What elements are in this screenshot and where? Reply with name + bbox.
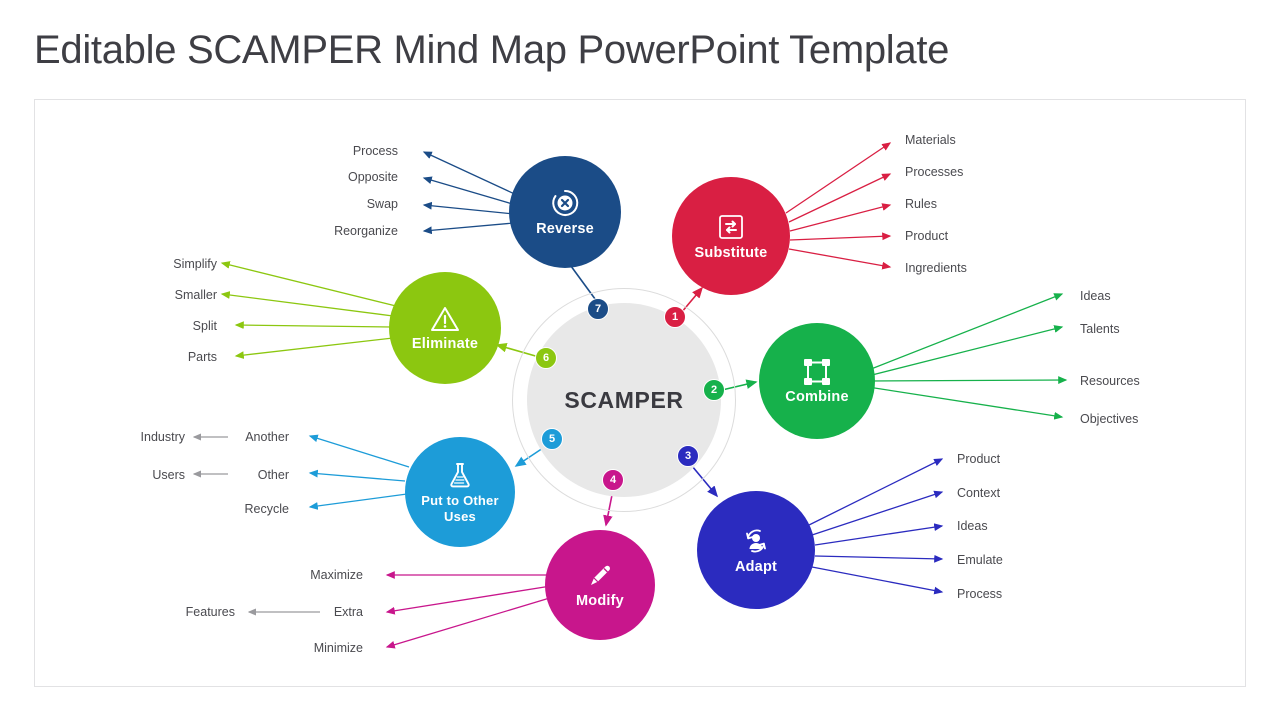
leaf-eliminate-0: Simplify [117, 257, 217, 271]
leaf-modify-0: Maximize [243, 568, 363, 582]
leaf-combine-2: Resources [1080, 374, 1140, 388]
leaf-substitute-4: Ingredients [905, 261, 967, 275]
leaf-reverse-0: Process [278, 144, 398, 158]
leaf-modify-2: Minimize [243, 641, 363, 655]
leaf-eliminate-3: Parts [117, 350, 217, 364]
person-refresh-icon [740, 525, 772, 557]
node-modify[interactable]: Modify [545, 530, 655, 640]
badge-7-reverse[interactable]: 7 [587, 298, 609, 320]
warning-triangle-icon [429, 304, 461, 334]
leaf-adapt-2: Ideas [957, 519, 988, 533]
leaf-substitute-3: Product [905, 229, 948, 243]
node-reverse[interactable]: Reverse [509, 156, 621, 268]
leaf-reverse-1: Opposite [278, 170, 398, 184]
leaf-modify-sub-0: Features [120, 605, 235, 619]
leaf-combine-0: Ideas [1080, 289, 1111, 303]
leaf-modify-1: Extra [243, 605, 363, 619]
exchange-arrows-icon [715, 211, 747, 243]
node-label-line-1: Put to Other [421, 493, 499, 508]
badge-2-combine[interactable]: 2 [703, 379, 725, 401]
reverse-x-icon [549, 187, 581, 219]
badge-6-eliminate[interactable]: 6 [535, 347, 557, 369]
node-put-to-other-uses-label: Put to Other Uses [421, 493, 499, 524]
hub-label: SCAMPER [527, 303, 721, 497]
node-adapt[interactable]: Adapt [697, 491, 815, 609]
node-adapt-label: Adapt [735, 560, 777, 576]
network-nodes-icon [801, 357, 833, 387]
badge-1-substitute[interactable]: 1 [664, 306, 686, 328]
node-combine[interactable]: Combine [759, 323, 875, 439]
leaf-combine-1: Talents [1080, 322, 1120, 336]
leaf-substitute-2: Rules [905, 197, 937, 211]
leaf-put-to-other-uses-2: Recycle [189, 502, 289, 516]
flask-icon [445, 460, 475, 490]
node-put-to-other-uses[interactable]: Put to Other Uses [405, 437, 515, 547]
leaf-adapt-3: Emulate [957, 553, 1003, 567]
leaf-adapt-0: Product [957, 452, 1000, 466]
leaf-put-to-other-uses-sub-0: Industry [85, 430, 185, 444]
badge-3-adapt[interactable]: 3 [677, 445, 699, 467]
leaf-substitute-0: Materials [905, 133, 956, 147]
leaf-adapt-4: Process [957, 587, 1002, 601]
leaf-combine-3: Objectives [1080, 412, 1138, 426]
node-eliminate[interactable]: Eliminate [389, 272, 501, 384]
node-substitute[interactable]: Substitute [672, 177, 790, 295]
leaf-put-to-other-uses-sub-1: Users [85, 468, 185, 482]
leaf-put-to-other-uses-1: Other [189, 468, 289, 482]
leaf-adapt-1: Context [957, 486, 1000, 500]
badge-5-put-to-other-uses[interactable]: 5 [541, 428, 563, 450]
leaf-reverse-2: Swap [278, 197, 398, 211]
pencil-icon [585, 561, 615, 591]
leaf-put-to-other-uses-0: Another [189, 430, 289, 444]
leaf-eliminate-2: Split [117, 319, 217, 333]
node-reverse-label: Reverse [536, 222, 594, 238]
node-substitute-label: Substitute [695, 246, 768, 262]
node-modify-label: Modify [576, 594, 624, 610]
node-eliminate-label: Eliminate [412, 337, 478, 353]
badge-4-modify[interactable]: 4 [602, 469, 624, 491]
node-label-line-2: Uses [444, 509, 476, 524]
leaf-reverse-3: Reorganize [278, 224, 398, 238]
leaf-substitute-1: Processes [905, 165, 963, 179]
leaf-eliminate-1: Smaller [117, 288, 217, 302]
node-combine-label: Combine [785, 390, 848, 406]
slide-page: Editable SCAMPER Mind Map PowerPoint Tem… [0, 0, 1280, 720]
